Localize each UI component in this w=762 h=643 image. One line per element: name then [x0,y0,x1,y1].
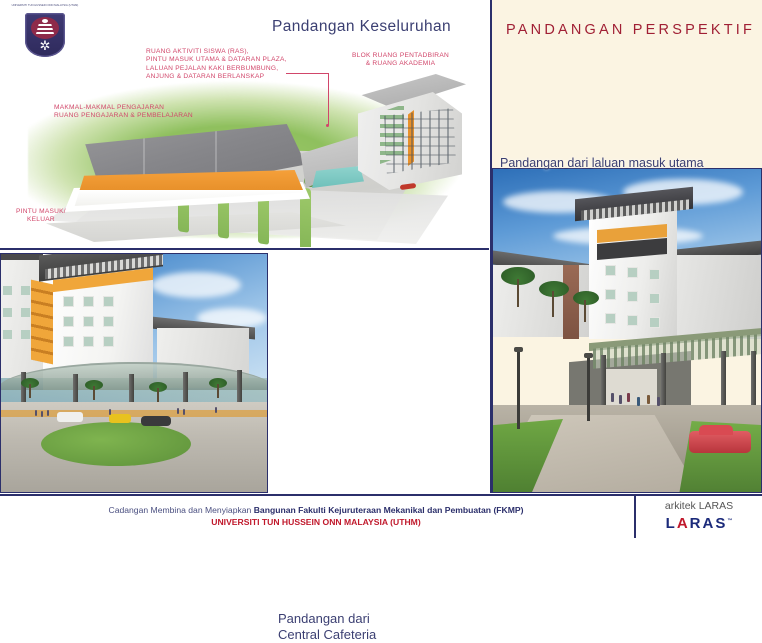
university-logo-caption: UNIVERSITI TUN HUSSEIN ONN MALAYSIA (UTH… [8,2,82,7]
palm-tree [207,376,229,398]
window [649,317,660,328]
window [21,286,30,295]
leader-line [328,73,329,125]
perspective-render-image [492,168,762,493]
lawn [41,422,191,466]
cafeteria-render-image [0,253,268,493]
shield-icon: ✲ [25,13,65,57]
window [605,265,616,276]
university-logo: UNIVERSITI TUN HUSSEIN ONN MALAYSIA (UTH… [8,2,82,58]
window [21,330,30,339]
aerial-view-title: Pandangan Keseluruhan [272,18,451,36]
administration-block [350,74,466,194]
window [649,293,660,304]
cafeteria-view-panel: Pandangan dari Central Cafeteria [0,253,489,493]
car [689,431,751,453]
cafeteria-caption: Pandangan dari Central Cafeteria [278,611,376,643]
person [41,411,43,417]
window [63,316,74,327]
shield-keris-icon: ✲ [36,39,54,52]
palm-tree [147,380,169,402]
person [637,397,640,406]
window [3,330,12,339]
window [83,296,94,307]
aerial-view-panel: UNIVERSITI TUN HUSSEIN ONN MALAYSIA (UTH… [0,0,489,250]
window [63,296,74,307]
car [109,414,131,423]
window [83,336,94,347]
person [215,407,217,413]
window [63,336,74,347]
project-prefix: Cadangan Membina dan Menyiapkan [108,505,253,515]
annotation-entry-exit: PINTU MASUK/ KELUAR [16,208,66,225]
palm-tree [499,265,539,305]
person [647,395,650,404]
person [611,393,614,402]
person [619,395,622,404]
person [657,397,660,406]
window [627,315,638,326]
perspective-title: PANDANGAN PERSPEKTIF [506,22,755,38]
person [109,409,111,415]
right-wing-block [671,255,762,339]
shield-dot [42,19,48,23]
window [649,269,660,280]
project-description: Cadangan Membina dan Menyiapkan Bangunan… [0,505,632,515]
cloud [151,272,241,298]
palm-tree [83,378,105,400]
annotation-student-activity: RUANG AKTIVITI SISWA (RAS), PINTU MASUK … [146,48,287,82]
annotation-teaching-labs: MAKMAL-MAKMAL PENGAJARAN RUANG PENGAJARA… [54,104,193,121]
person [177,408,179,414]
annotation-admin-block: BLOK RUANG PENTADBIRAN & RUANG AKADEMIA [352,52,449,69]
window [83,316,94,327]
street-lamp [587,357,590,421]
window [3,308,12,317]
orange-louvre-fin [31,280,53,365]
person [183,409,185,415]
architect-logo-ras: RAS [690,515,728,532]
window [627,291,638,302]
window [21,308,30,317]
architect-logo-l: L [666,515,677,532]
cafeteria-caption-line1: Pandangan dari [278,611,376,627]
street-lamp [517,351,520,429]
project-client: UNIVERSITI TUN HUSSEIN ONN MALAYSIA (UTH… [0,517,632,527]
architect-block: arkitek LARAS LARAS™ [634,496,762,538]
trademark-icon: ™ [727,518,732,524]
window [3,286,12,295]
person [35,410,37,416]
palm-tree [19,376,41,398]
left-column: UNIVERSITI TUN HUSSEIN ONN MALAYSIA (UTH… [0,0,489,493]
footer-title-block: Cadangan Membina dan Menyiapkan Bangunan… [0,494,762,538]
window [605,289,616,300]
leader-dot [326,124,329,127]
window [103,316,114,327]
cafeteria-caption-line2: Central Cafeteria [278,627,376,643]
architect-name: arkitek LARAS [636,500,762,512]
person [47,410,49,416]
architect-logo-a-accent: A [677,515,690,532]
presentation-board: UNIVERSITI TUN HUSSEIN ONN MALAYSIA (UTH… [0,0,762,538]
window [103,336,114,347]
perspective-panel: PANDANGAN PERSPEKTIF Pandangan dari lalu… [490,0,762,493]
leader-line [286,73,328,74]
car [141,416,171,426]
car [57,412,83,422]
palm-tree [571,289,601,321]
perspective-caption: Pandangan dari laluan masuk utama [500,156,704,170]
architect-logo: LARAS™ [636,515,762,532]
window [103,296,114,307]
window [605,313,616,324]
person [627,393,630,402]
window [627,267,638,278]
site-aerial-illustration [18,62,473,247]
palm-tree [537,279,571,315]
project-name: Bangunan Fakulti Kejuruteraan Mekanikal … [254,505,524,515]
